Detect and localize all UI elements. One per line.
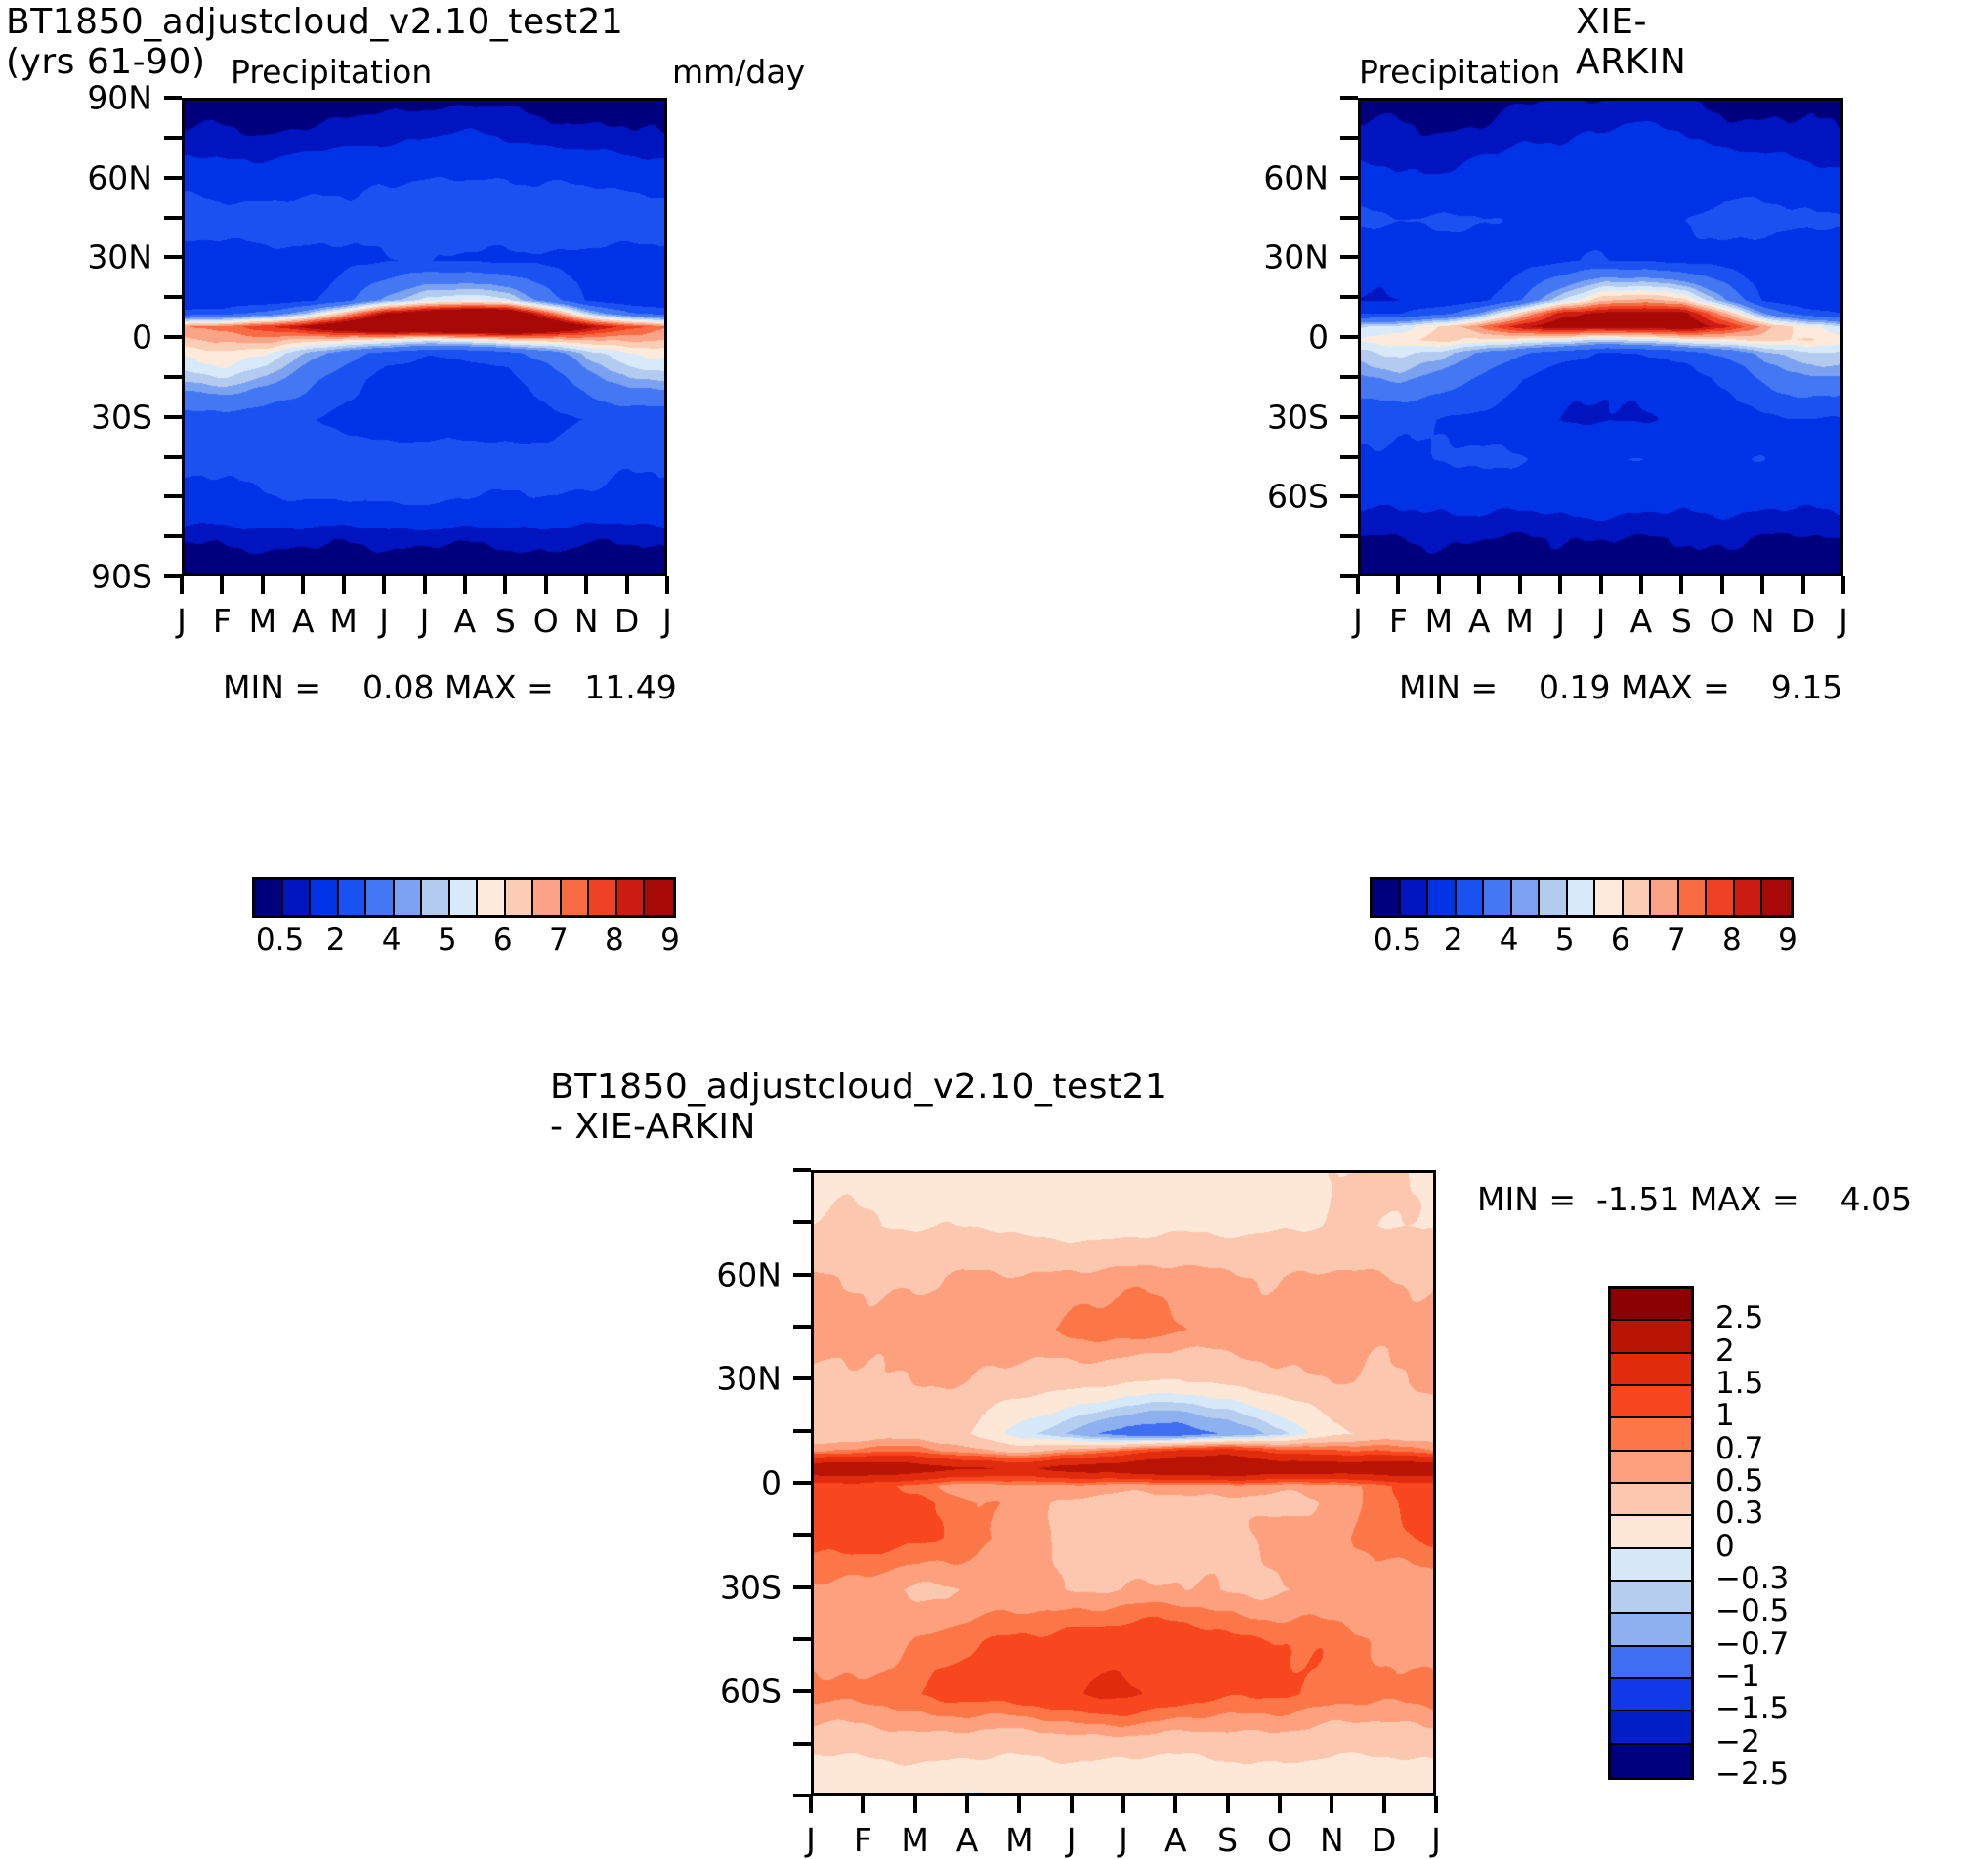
- x-axis-label: O: [1710, 602, 1735, 640]
- x-axis-label: N: [1320, 1821, 1344, 1859]
- top-right-minmax: MIN = 0.19 MAX = 9.15: [1399, 668, 1842, 706]
- x-tick: [584, 576, 588, 594]
- y-axis-label: 90N: [25, 79, 152, 117]
- colorbar-swatch: [339, 880, 367, 915]
- x-axis-label: O: [533, 602, 559, 640]
- colorbar-swatch: [1611, 1711, 1691, 1744]
- y-tick: [164, 176, 182, 180]
- x-axis-label: J: [1067, 1821, 1077, 1859]
- colorbar-swatch: [478, 880, 506, 915]
- y-tick: [164, 415, 182, 419]
- colorbar-difference: [1608, 1286, 1694, 1780]
- y-tick: [793, 1742, 811, 1746]
- x-tick: [544, 576, 548, 594]
- x-tick: [809, 1796, 813, 1813]
- x-tick: [665, 576, 669, 594]
- colorbar-swatch: [1707, 880, 1735, 915]
- x-tick: [1173, 1796, 1177, 1813]
- x-tick: [463, 576, 467, 594]
- x-tick: [1599, 576, 1603, 594]
- y-tick: [164, 216, 182, 220]
- colorbar-swatch: [1679, 880, 1708, 915]
- colorbar-swatch: [1611, 1647, 1691, 1679]
- y-tick: [1340, 216, 1358, 220]
- x-tick: [1226, 1796, 1230, 1813]
- x-tick: [180, 576, 184, 594]
- x-tick: [1639, 576, 1643, 594]
- x-tick: [1396, 576, 1400, 594]
- y-tick: [793, 1220, 811, 1224]
- colorbar-swatch: [1611, 1582, 1691, 1614]
- x-tick: [1518, 576, 1522, 594]
- x-axis-label: M: [329, 602, 357, 640]
- bottom-title: BT1850_adjustcloud_v2.10_test21 - XIE-AR…: [550, 1067, 1167, 1147]
- colorbar-swatch: [1624, 880, 1652, 915]
- colorbar-swatch: [1611, 1516, 1691, 1548]
- y-tick: [793, 1533, 811, 1537]
- y-tick: [793, 1168, 811, 1172]
- colorbar-tick-label: −0.3: [1715, 1561, 1789, 1596]
- colorbar-tick-label: 6: [1611, 922, 1630, 957]
- colorbar-swatch: [1540, 880, 1568, 915]
- y-tick: [164, 375, 182, 379]
- y-tick: [1340, 375, 1358, 379]
- x-axis-label: S: [1671, 602, 1692, 640]
- y-tick: [1340, 96, 1358, 100]
- colorbar-tick-label: 4: [382, 922, 402, 957]
- y-tick: [1340, 295, 1358, 299]
- x-axis-label: N: [574, 602, 599, 640]
- colorbar-swatch: [1611, 1386, 1691, 1418]
- x-axis-label: J: [1839, 602, 1848, 640]
- colorbar-swatch: [1735, 880, 1763, 915]
- colorbar-tick-label: 0.5: [1715, 1463, 1763, 1499]
- x-axis-label: N: [1751, 602, 1775, 640]
- x-axis-label: A: [1630, 602, 1653, 640]
- y-tick: [164, 96, 182, 100]
- colorbar-swatch: [1457, 880, 1485, 915]
- plot-area-model-precip: [182, 98, 667, 576]
- x-axis-label: A: [1468, 602, 1491, 640]
- y-tick: [1340, 255, 1358, 259]
- colorbar-tick-label: 8: [605, 922, 624, 957]
- colorbar-tick-label: 0.5: [1374, 922, 1421, 957]
- x-tick: [1760, 576, 1764, 594]
- colorbar-tick-label: −2.5: [1715, 1756, 1789, 1792]
- bottom-minmax: MIN = -1.51 MAX = 4.05: [1477, 1180, 1912, 1218]
- y-axis-label: 30S: [25, 398, 152, 436]
- x-axis-label: A: [1164, 1821, 1187, 1859]
- top-left-units: mm/day: [672, 53, 805, 91]
- x-tick: [342, 576, 346, 594]
- x-tick: [220, 576, 224, 594]
- colorbar-tick-label: 0.7: [1715, 1431, 1763, 1466]
- x-tick: [1558, 576, 1562, 594]
- x-axis-label: D: [1372, 1821, 1396, 1859]
- x-axis-label: S: [1217, 1821, 1238, 1859]
- colorbar-tick-label: 8: [1722, 922, 1742, 957]
- x-axis-label: J: [1119, 1821, 1128, 1859]
- x-tick: [1382, 1796, 1386, 1813]
- x-axis-label: F: [213, 602, 232, 640]
- x-tick: [1841, 576, 1845, 594]
- x-axis-label: D: [1791, 602, 1815, 640]
- colorbar-tick-label: 2: [1715, 1333, 1735, 1369]
- x-axis-label: A: [956, 1821, 979, 1859]
- x-tick: [1070, 1796, 1074, 1813]
- y-tick: [793, 1376, 811, 1380]
- x-axis-label: F: [1389, 602, 1408, 640]
- colorbar-tick-label: 7: [549, 922, 569, 957]
- colorbar-tick-label: −1.5: [1715, 1691, 1789, 1726]
- colorbar-precip-left: [252, 877, 676, 918]
- x-axis-label: J: [662, 602, 672, 640]
- colorbar-swatch: [1611, 1452, 1691, 1484]
- colorbar-tick-label: 5: [1555, 922, 1575, 957]
- colorbar-swatch: [1611, 1614, 1691, 1646]
- y-tick: [164, 534, 182, 538]
- y-axis-label: 60N: [25, 158, 152, 196]
- colorbar-tick-label: 0: [1715, 1529, 1735, 1564]
- y-axis-label: 30N: [1202, 238, 1329, 276]
- colorbar-swatch: [1651, 880, 1679, 915]
- y-axis-label: 60N: [1202, 158, 1329, 196]
- y-axis-label: 30N: [655, 1360, 782, 1398]
- colorbar-swatch: [1595, 880, 1624, 915]
- colorbar-tick-label: −1: [1715, 1659, 1760, 1694]
- y-tick: [1340, 494, 1358, 498]
- x-axis-label: S: [495, 602, 516, 640]
- x-tick: [1017, 1796, 1021, 1813]
- x-tick: [1720, 576, 1724, 594]
- colorbar-swatch: [1611, 1418, 1691, 1451]
- x-tick: [382, 576, 386, 594]
- y-tick: [1340, 335, 1358, 339]
- colorbar-tick-label: −0.7: [1715, 1627, 1789, 1662]
- y-axis-label: 60S: [655, 1672, 782, 1711]
- y-tick: [164, 494, 182, 498]
- y-tick: [793, 1585, 811, 1589]
- x-axis-label: D: [614, 602, 639, 640]
- plot-area-obs-precip: [1358, 98, 1843, 576]
- x-axis-label: J: [806, 1821, 816, 1859]
- top-left-minmax: MIN = 0.08 MAX = 11.49: [223, 668, 677, 706]
- y-tick: [164, 295, 182, 299]
- colorbar-tick-label: 6: [493, 922, 513, 957]
- colorbar-swatch: [311, 880, 339, 915]
- colorbar-tick-label: 4: [1500, 922, 1519, 957]
- y-axis-label: 30N: [25, 238, 152, 276]
- x-tick: [1437, 576, 1441, 594]
- y-tick: [164, 455, 182, 459]
- top-right-title: XIE-ARKIN: [1576, 2, 1686, 82]
- y-tick: [1340, 415, 1358, 419]
- x-axis-label: J: [420, 602, 430, 640]
- colorbar-tick-label: 5: [438, 922, 457, 957]
- x-tick: [301, 576, 305, 594]
- colorbar-swatch: [1373, 880, 1401, 915]
- x-axis-label: J: [1431, 1821, 1441, 1859]
- x-tick: [1477, 576, 1481, 594]
- x-tick: [861, 1796, 865, 1813]
- colorbar-swatch: [1401, 880, 1429, 915]
- colorbar-swatch: [617, 880, 646, 915]
- y-axis-label: 0: [655, 1464, 782, 1502]
- colorbar-swatch: [1611, 1679, 1691, 1711]
- x-axis-label: J: [1555, 602, 1565, 640]
- colorbar-tick-label: 2: [326, 922, 346, 957]
- y-tick: [164, 255, 182, 259]
- y-tick: [793, 1637, 811, 1641]
- colorbar-swatch: [1611, 1484, 1691, 1516]
- colorbar-swatch: [1611, 1289, 1691, 1321]
- x-axis-label: J: [177, 602, 187, 640]
- y-tick: [793, 1481, 811, 1485]
- y-axis-label: 30S: [655, 1568, 782, 1606]
- colorbar-tick-label: 0.3: [1715, 1496, 1763, 1531]
- colorbar-swatch: [1611, 1321, 1691, 1353]
- y-tick: [1340, 534, 1358, 538]
- colorbar-swatch: [1762, 880, 1791, 915]
- colorbar-tick-label: −0.5: [1715, 1593, 1789, 1628]
- y-tick: [164, 335, 182, 339]
- x-tick: [1434, 1796, 1438, 1813]
- colorbar-swatch: [1611, 1745, 1691, 1777]
- x-axis-label: J: [1596, 602, 1606, 640]
- y-tick: [793, 1429, 811, 1433]
- x-tick: [1356, 576, 1360, 594]
- x-tick: [1278, 1796, 1282, 1813]
- colorbar-precip-right: [1370, 877, 1794, 918]
- y-axis-label: 90S: [25, 558, 152, 596]
- x-tick: [423, 576, 427, 594]
- colorbar-swatch: [1568, 880, 1596, 915]
- y-tick: [793, 1325, 811, 1329]
- x-tick: [1121, 1796, 1125, 1813]
- y-tick: [1340, 136, 1358, 140]
- colorbar-swatch: [422, 880, 450, 915]
- x-axis-label: J: [379, 602, 389, 640]
- colorbar-swatch: [1611, 1354, 1691, 1386]
- y-tick: [1340, 176, 1358, 180]
- colorbar-swatch: [506, 880, 534, 915]
- x-axis-label: M: [249, 602, 276, 640]
- plot-area-difference: [811, 1170, 1436, 1796]
- x-axis-label: M: [901, 1821, 928, 1859]
- x-tick: [1330, 1796, 1333, 1813]
- colorbar-swatch: [533, 880, 562, 915]
- colorbar-tick-label: 2.5: [1715, 1300, 1763, 1335]
- y-tick: [1340, 455, 1358, 459]
- colorbar-swatch: [1611, 1549, 1691, 1582]
- x-tick: [1801, 576, 1805, 594]
- colorbar-tick-label: 1: [1715, 1398, 1735, 1433]
- y-tick: [793, 1273, 811, 1277]
- x-axis-label: M: [1425, 602, 1453, 640]
- colorbar-tick-label: −2: [1715, 1724, 1760, 1759]
- y-tick: [793, 1689, 811, 1693]
- x-axis-label: J: [1353, 602, 1363, 640]
- colorbar-tick-label: 2: [1444, 922, 1463, 957]
- y-axis-label: 60S: [1202, 478, 1329, 516]
- colorbar-swatch: [645, 880, 673, 915]
- y-tick: [164, 136, 182, 140]
- x-axis-label: A: [292, 602, 315, 640]
- colorbar-swatch: [450, 880, 479, 915]
- x-axis-label: F: [854, 1821, 872, 1859]
- colorbar-tick-label: 0.5: [256, 922, 304, 957]
- y-axis-label: 30S: [1202, 398, 1329, 436]
- y-axis-label: 60N: [655, 1255, 782, 1293]
- x-axis-label: M: [1005, 1821, 1033, 1859]
- x-tick: [965, 1796, 969, 1813]
- x-axis-label: A: [454, 602, 477, 640]
- colorbar-tick-label: 1.5: [1715, 1366, 1763, 1401]
- colorbar-swatch: [1512, 880, 1541, 915]
- colorbar-tick-label: 7: [1667, 922, 1686, 957]
- y-axis-label: 0: [25, 318, 152, 357]
- colorbar-swatch: [562, 880, 590, 915]
- colorbar-tick-label: 9: [1778, 922, 1798, 957]
- y-axis-label: 0: [1202, 318, 1329, 357]
- colorbar-swatch: [395, 880, 423, 915]
- x-tick: [261, 576, 265, 594]
- x-axis-label: M: [1505, 602, 1533, 640]
- x-tick: [503, 576, 507, 594]
- x-tick: [913, 1796, 917, 1813]
- colorbar-swatch: [589, 880, 617, 915]
- colorbar-swatch: [1428, 880, 1457, 915]
- colorbar-swatch: [255, 880, 283, 915]
- colorbar-tick-label: 9: [660, 922, 680, 957]
- x-tick: [625, 576, 629, 594]
- colorbar-swatch: [283, 880, 312, 915]
- colorbar-swatch: [1484, 880, 1512, 915]
- x-tick: [1679, 576, 1683, 594]
- x-axis-label: O: [1267, 1821, 1292, 1859]
- colorbar-swatch: [366, 880, 395, 915]
